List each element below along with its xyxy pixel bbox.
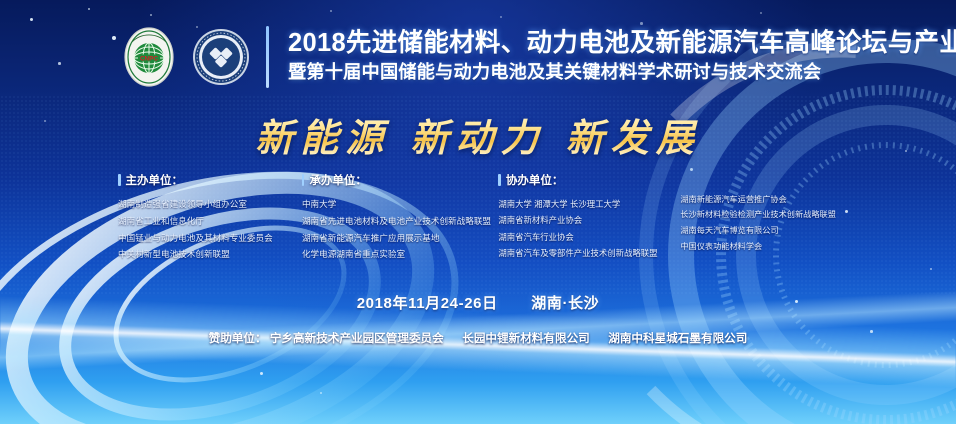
column-header-label: 协办单位： <box>506 172 564 188</box>
event-location: 湖南·长沙 <box>531 295 599 312</box>
list-item: 湖南新能源汽车运营推广协会 <box>680 192 848 208</box>
column-header-label: 主办单位： <box>126 172 184 188</box>
banner-title-sub: 暨第十届中国储能与动力电池及其关键材料学术研讨与技术交流会 <box>288 60 956 85</box>
column-undertaking-organizers: 承办单位： 中南大学 湖南省先进电池材料及电池产业技术创新战略联盟 湖南省新能源… <box>302 172 498 263</box>
list-item: 湖南省先进电池材料及电池产业技术创新战略联盟 <box>302 213 498 230</box>
blue-circular-seal-emblem-icon <box>190 26 252 88</box>
column-header-co-organizer: 协办单位： <box>498 172 680 188</box>
column-header-undertaking: 承办单位： <box>302 172 498 188</box>
list-item: 中关村新型电池技术创新联盟 <box>118 246 302 263</box>
sponsor-name: 长园中锂新材料有限公司 <box>462 332 590 345</box>
banner-title-main: 2018先进储能材料、动力电池及新能源汽车高峰论坛与产业对接会 <box>288 29 956 58</box>
banner-header: CNPC 2018先进储能材料、动力电池及新能源汽车高峰论坛与产业对接会 暨第十… <box>118 26 956 88</box>
list-item: 中国锰业与动力电池及其材料专业委员会 <box>118 230 302 247</box>
list-item: 中南大学 <box>302 196 498 213</box>
list-item: 湖南省新材料产业协会 <box>498 212 680 228</box>
list-item: 湖南每天汽车博览有限公司 <box>680 223 848 239</box>
column-header-spacer <box>680 172 848 192</box>
column-host-organizers: 主办单位： 湖南制造强省建设领导小组办公室 湖南省工业和信息化厅 中国锰业与动力… <box>118 172 302 263</box>
column-header-label: 承办单位： <box>309 172 367 188</box>
sponsor-name: 湖南中科星城石墨有限公司 <box>608 332 747 345</box>
svg-text:CNPC: CNPC <box>140 55 158 62</box>
list-item: 湖南制造强省建设领导小组办公室 <box>118 196 302 213</box>
conference-banner: CNPC 2018先进储能材料、动力电池及新能源汽车高峰论坛与产业对接会 暨第十… <box>0 0 956 424</box>
list-item: 湖南省工业和信息化厅 <box>118 213 302 230</box>
list-item: 长沙新材料检验检测产业技术创新战略联盟 <box>680 207 848 223</box>
column-co-organizers-continued: 湖南新能源汽车运营推广协会 长沙新材料检验检测产业技术创新战略联盟 湖南每天汽车… <box>680 172 848 263</box>
event-date: 2018年11月24-26日 <box>357 295 498 312</box>
tick-marker-icon <box>498 174 501 186</box>
date-location-line: 2018年11月24-26日 湖南·长沙 <box>0 292 956 313</box>
column-co-organizers: 协办单位： 湖南大学 湘潭大学 长沙理工大学 湖南省新材料产业协会 湖南省汽车行… <box>498 172 680 263</box>
organizer-columns: 主办单位： 湖南制造强省建设领导小组办公室 湖南省工业和信息化厅 中国锰业与动力… <box>118 172 848 263</box>
tick-marker-icon <box>118 174 121 186</box>
list-item: 湖南大学 湘潭大学 长沙理工大学 <box>498 196 680 212</box>
cnpc-globe-emblem-icon: CNPC <box>118 26 180 88</box>
sponsor-name: 宁乡高新技术产业园区管理委员会 <box>270 332 444 345</box>
title-block: 2018先进储能材料、动力电池及新能源汽车高峰论坛与产业对接会 暨第十届中国储能… <box>288 29 956 85</box>
column-header-host: 主办单位： <box>118 172 302 188</box>
tick-marker-icon <box>302 174 305 186</box>
list-item: 化学电源湖南省重点实验室 <box>302 246 498 263</box>
list-item: 湖南省新能源汽车推广应用展示基地 <box>302 230 498 247</box>
list-item: 湖南省汽车及零部件产业技术创新战略联盟 <box>498 245 680 261</box>
header-divider <box>266 26 269 88</box>
list-item: 湖南省汽车行业协会 <box>498 229 680 245</box>
sponsor-label: 赞助单位： <box>209 332 267 345</box>
banner-slogan: 新能源 新动力 新发展 <box>0 107 956 162</box>
sponsor-line: 赞助单位： 宁乡高新技术产业园区管理委员会 长园中锂新材料有限公司 湖南中科星城… <box>0 330 956 346</box>
list-item: 中国仪表功能材料学会 <box>680 239 848 255</box>
